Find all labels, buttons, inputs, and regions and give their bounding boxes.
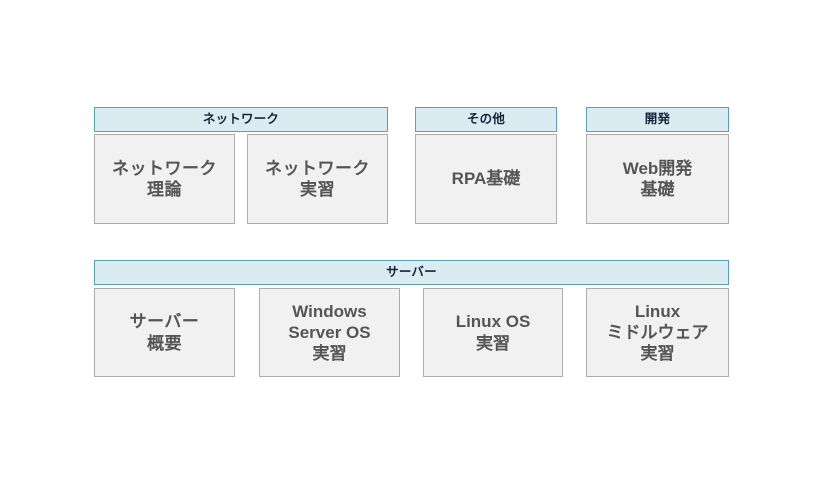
group-header-server[interactable]: サーバー (94, 260, 729, 285)
card-server-overview[interactable]: サーバー 概要 (94, 288, 235, 377)
cards-row-development: Web開発 基礎 (586, 134, 729, 224)
card-linux-middleware-practice[interactable]: Linux ミドルウェア 実習 (586, 288, 729, 377)
course-category-diagram: ネットワーク ネットワーク 理論 ネットワーク 実習 その他 RPA基礎 開発 … (0, 0, 825, 500)
group-other: その他 RPA基礎 (415, 107, 557, 224)
group-network: ネットワーク ネットワーク 理論 ネットワーク 実習 (94, 107, 388, 224)
group-header-other[interactable]: その他 (415, 107, 557, 132)
cards-row-server: サーバー 概要 Windows Server OS 実習 Linux OS 実習… (94, 288, 729, 377)
card-linux-os-practice[interactable]: Linux OS 実習 (423, 288, 563, 377)
group-development: 開発 Web開発 基礎 (586, 107, 729, 224)
card-windows-server-os-practice[interactable]: Windows Server OS 実習 (259, 288, 400, 377)
cards-row-network: ネットワーク 理論 ネットワーク 実習 (94, 134, 388, 224)
card-network-practice[interactable]: ネットワーク 実習 (247, 134, 388, 224)
group-server: サーバー サーバー 概要 Windows Server OS 実習 Linux … (94, 260, 729, 377)
card-web-development-basics[interactable]: Web開発 基礎 (586, 134, 729, 224)
group-header-development[interactable]: 開発 (586, 107, 729, 132)
group-header-network[interactable]: ネットワーク (94, 107, 388, 132)
card-rpa-basics[interactable]: RPA基礎 (415, 134, 557, 224)
cards-row-other: RPA基礎 (415, 134, 557, 224)
card-network-theory[interactable]: ネットワーク 理論 (94, 134, 235, 224)
